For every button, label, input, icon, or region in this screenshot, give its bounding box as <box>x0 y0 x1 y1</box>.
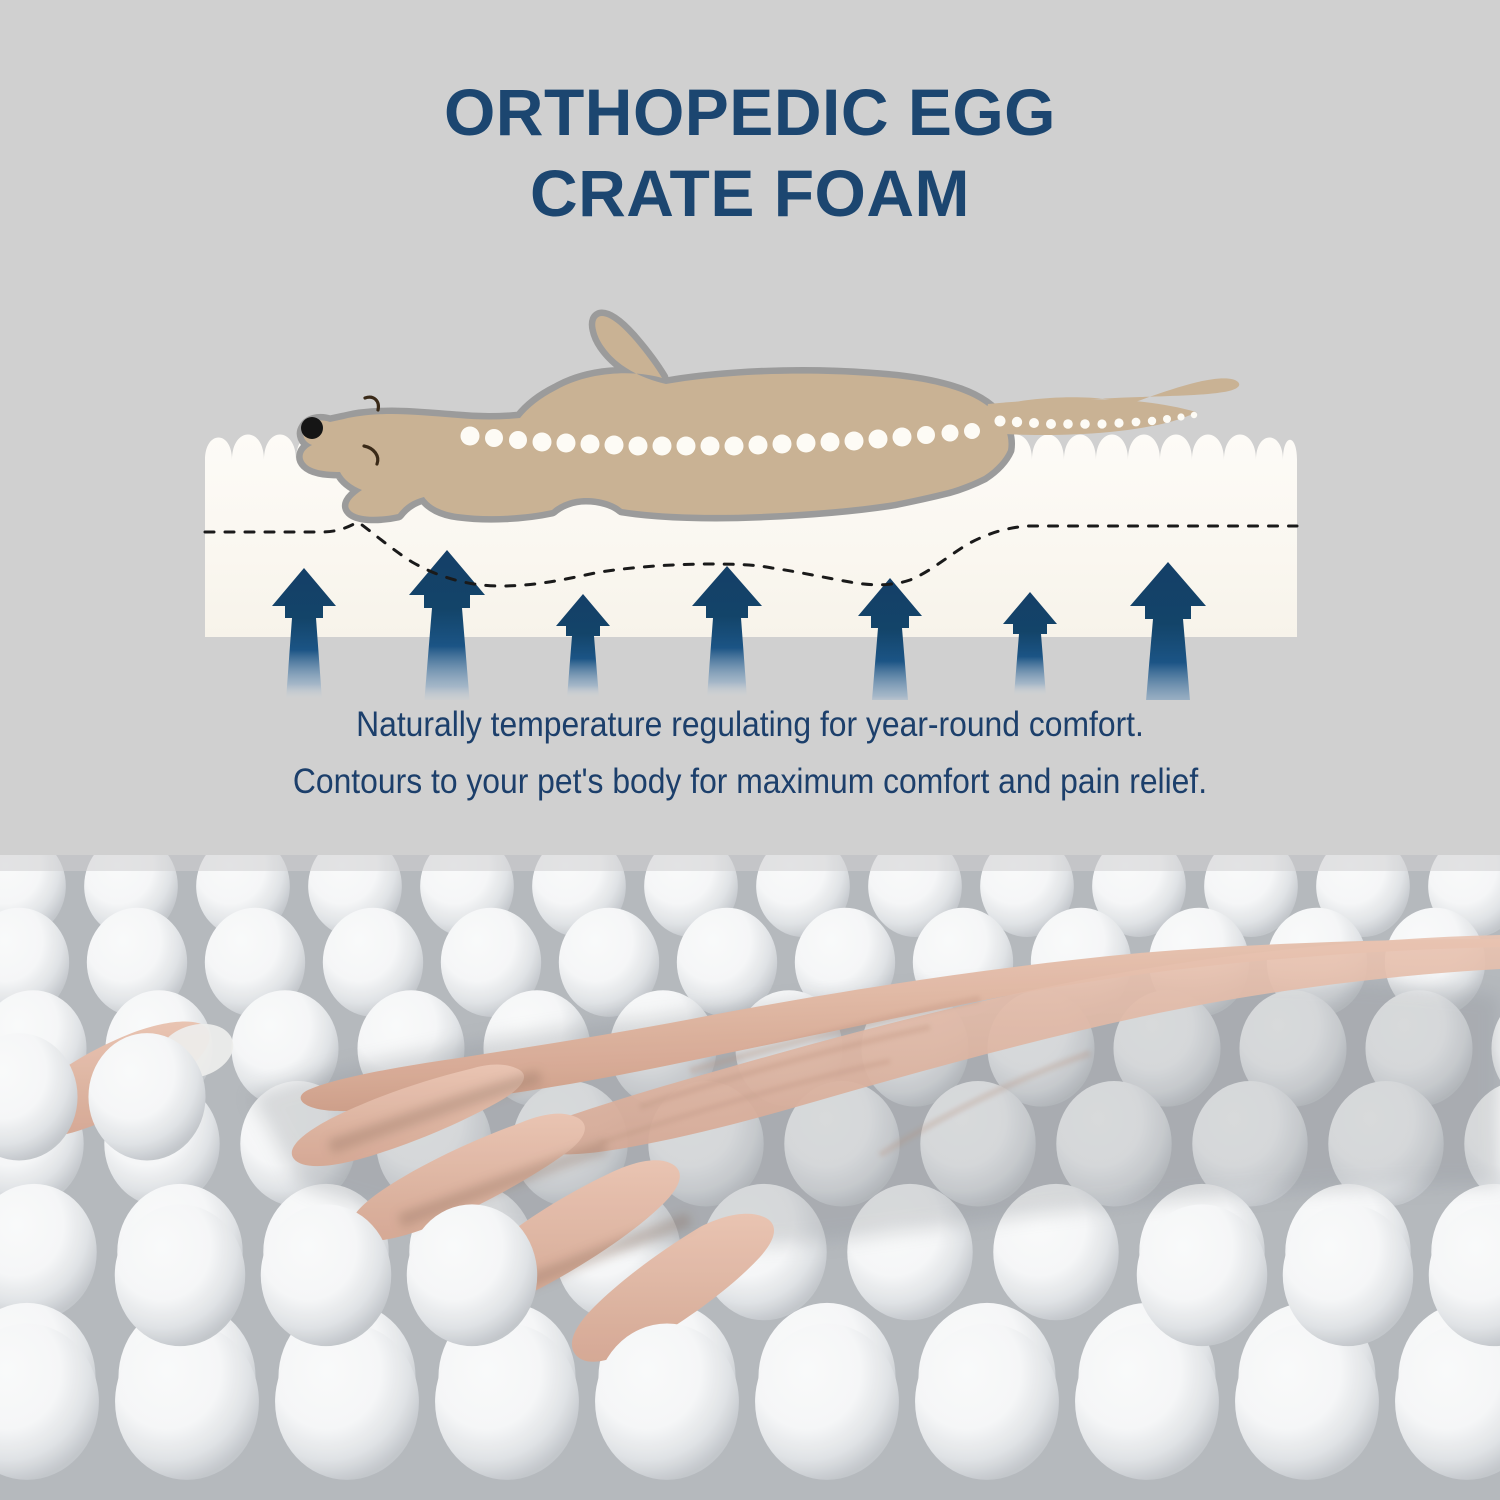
headline-line-1: ORTHOPEDIC EGG <box>444 75 1056 149</box>
page-title: ORTHOPEDIC EGG CRATE FOAM <box>0 72 1500 233</box>
subcopy-line-1: Naturally temperature regulating for yea… <box>68 697 1433 754</box>
subcopy-line-2: Contours to your pet's body for maximum … <box>68 754 1433 811</box>
dog-on-foam-illustration <box>0 300 1500 700</box>
foam-closeup-photo <box>0 855 1500 1500</box>
product-feature-graphic: ORTHOPEDIC EGG CRATE FOAM <box>0 0 1500 1500</box>
dog-body <box>303 316 1009 517</box>
headline-line-2: CRATE FOAM <box>0 153 1500 234</box>
dog-nose <box>301 417 323 439</box>
infographic-panel: ORTHOPEDIC EGG CRATE FOAM <box>0 0 1500 855</box>
feature-description: Naturally temperature regulating for yea… <box>68 697 1433 810</box>
